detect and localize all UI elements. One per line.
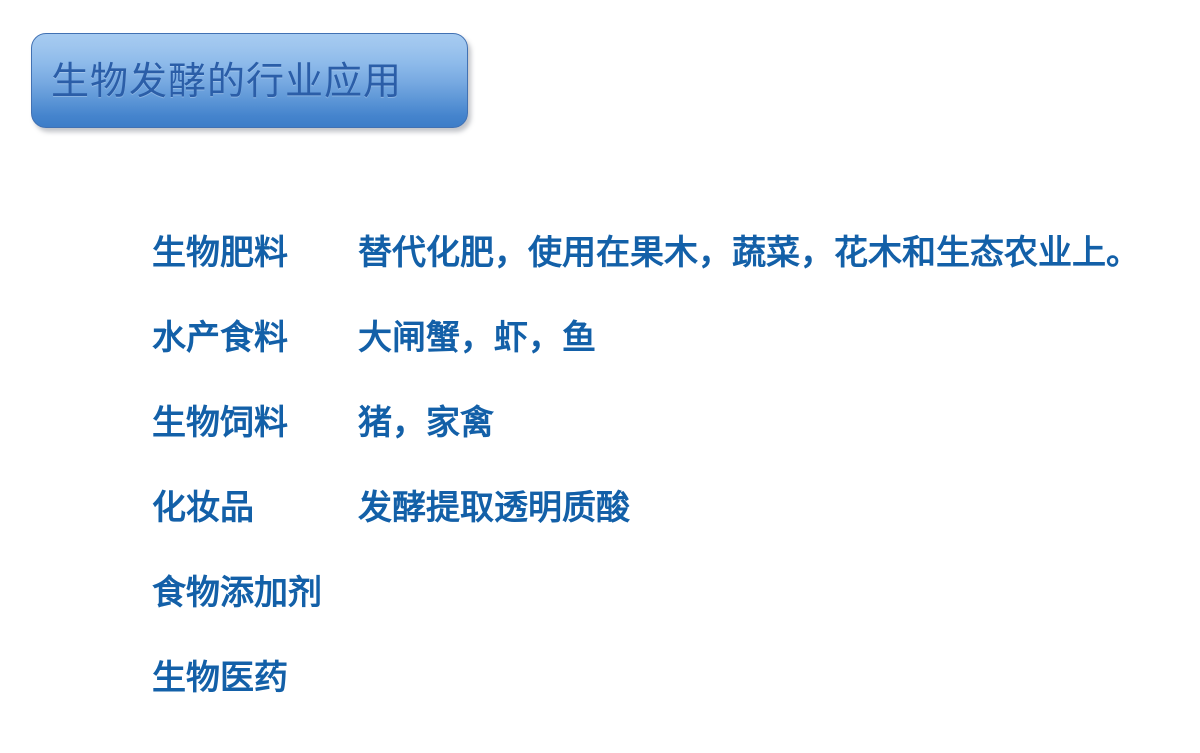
list-item-value: 替代化肥，使用在果木，蔬菜，花木和生态农业上。 xyxy=(358,236,1140,270)
list-item-label: 生物医药 xyxy=(152,661,358,695)
list-item: 生物饲料 猪，家禽 xyxy=(152,406,1192,491)
list-item-value: 发酵提取透明质酸 xyxy=(358,491,630,525)
application-list: 生物肥料 替代化肥，使用在果木，蔬菜，花木和生态农业上。 水产食料 大闸蟹，虾，… xyxy=(152,236,1192,746)
list-item: 化妆品 发酵提取透明质酸 xyxy=(152,491,1192,576)
title-badge: 生物发酵的行业应用 xyxy=(31,33,468,128)
list-item-value: 猪，家禽 xyxy=(358,406,494,440)
list-item: 生物肥料 替代化肥，使用在果木，蔬菜，花木和生态农业上。 xyxy=(152,236,1192,321)
list-item: 食物添加剂 xyxy=(152,576,1192,661)
list-item-label: 食物添加剂 xyxy=(152,576,358,610)
list-item-label: 化妆品 xyxy=(152,491,358,525)
list-item-label: 水产食料 xyxy=(152,321,358,355)
list-item-value: 大闸蟹，虾，鱼 xyxy=(358,321,596,355)
list-item: 水产食料 大闸蟹，虾，鱼 xyxy=(152,321,1192,406)
page-title: 生物发酵的行业应用 xyxy=(51,62,402,100)
list-item: 生物医药 xyxy=(152,661,1192,746)
list-item-label: 生物饲料 xyxy=(152,406,358,440)
slide-canvas: 生物发酵的行业应用 生物肥料 替代化肥，使用在果木，蔬菜，花木和生态农业上。 水… xyxy=(0,0,1200,753)
list-item-label: 生物肥料 xyxy=(152,236,358,270)
